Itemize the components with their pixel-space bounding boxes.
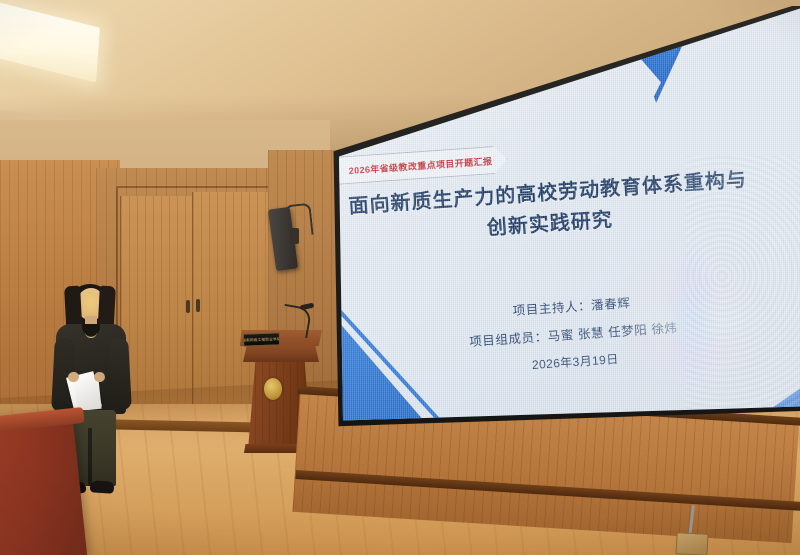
presenter-leg-separation xyxy=(88,428,92,486)
podium-nameplate-text: 湖南网络工程职业学院 xyxy=(243,336,280,343)
door-handle-left[interactable] xyxy=(186,300,190,313)
door-handle-right[interactable] xyxy=(196,299,200,312)
screen-display[interactable]: 2026年省级教改重点项目开题汇报 面向新质生产力的高校劳动教育体系重构与 创新… xyxy=(306,6,800,446)
slide-banner-text: 2026年省级教改重点项目开题汇报 xyxy=(348,156,492,176)
slide-content: 2026年省级教改重点项目开题汇报 面向新质生产力的高校劳动教育体系重构与 创新… xyxy=(306,6,800,446)
presenter-shoe-right xyxy=(90,480,115,494)
projection-screen[interactable]: 2026年省级教改重点项目开题汇报 面向新质生产力的高校劳动教育体系重构与 创新… xyxy=(306,6,800,446)
speaker-bracket xyxy=(290,228,299,244)
podium-emblem-icon xyxy=(264,378,282,400)
presenter-arm-right xyxy=(108,338,132,411)
wall-outlet-plate xyxy=(675,532,708,555)
podium-nameplate: 湖南网络工程职业学院 xyxy=(243,332,280,346)
presenter-hand-right xyxy=(94,372,105,382)
conference-room-scene: 湖南网络工程职业学院 xyxy=(0,0,800,555)
blue-triangle-icon xyxy=(612,6,714,87)
slide-banner: 2026年省级教改重点项目开题汇报 xyxy=(337,145,508,184)
slide-meta-block: 项目主持人：潘春辉 项目组成员：马蜜 张慧 任梦阳 徐炜 2026年3月19日 xyxy=(371,280,776,390)
